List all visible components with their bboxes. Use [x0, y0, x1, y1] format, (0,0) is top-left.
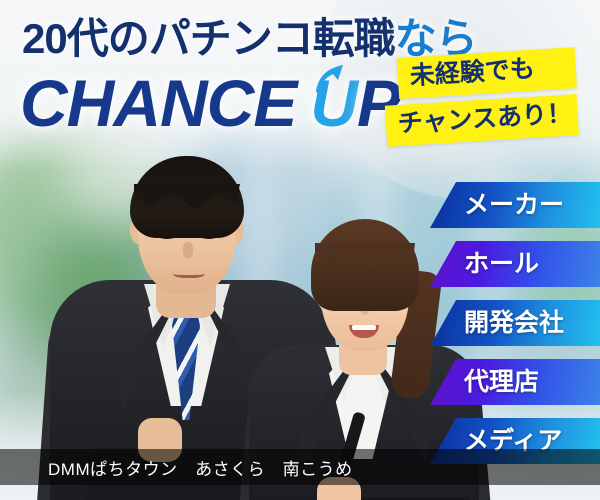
man-mouth — [173, 268, 205, 278]
woman-teeth — [352, 325, 376, 330]
credit-text: DMMぱちタウン あさくら 南こうめ — [0, 455, 353, 480]
promo-badge: 未経験でも チャンスあり！ — [398, 58, 598, 146]
logo-chance-up: CHANCEUP — [20, 70, 400, 136]
category-button-maker[interactable]: メーカー — [430, 182, 600, 228]
headline-main: 20代のパチンコ転職 — [22, 15, 395, 62]
category-label: ホール — [464, 252, 539, 277]
logo-letter-u: U — [310, 66, 357, 140]
category-label: 開発会社 — [464, 311, 564, 336]
category-button-hall[interactable]: ホール — [430, 241, 600, 287]
logo-word-chance: CHANCE — [20, 66, 296, 140]
category-button-developer[interactable]: 開発会社 — [430, 300, 600, 346]
man-nose — [183, 242, 193, 258]
category-button-agency[interactable]: 代理店 — [430, 359, 600, 405]
badge-line-2: チャンスあり！ — [385, 94, 579, 147]
woman-hair — [311, 219, 419, 311]
category-list: メーカー ホール 開発会社 代理店 メディア — [430, 182, 600, 477]
ad-banner[interactable]: 20代のパチンコ転職なら CHANCEUP 未経験でも チャンスあり！ メーカー… — [0, 0, 600, 500]
category-label: 代理店 — [464, 370, 539, 395]
credit-band: DMMぱちタウン あさくら 南こうめ — [0, 449, 600, 485]
headline: 20代のパチンコ転職なら — [22, 18, 452, 60]
category-label: メーカー — [464, 193, 564, 218]
